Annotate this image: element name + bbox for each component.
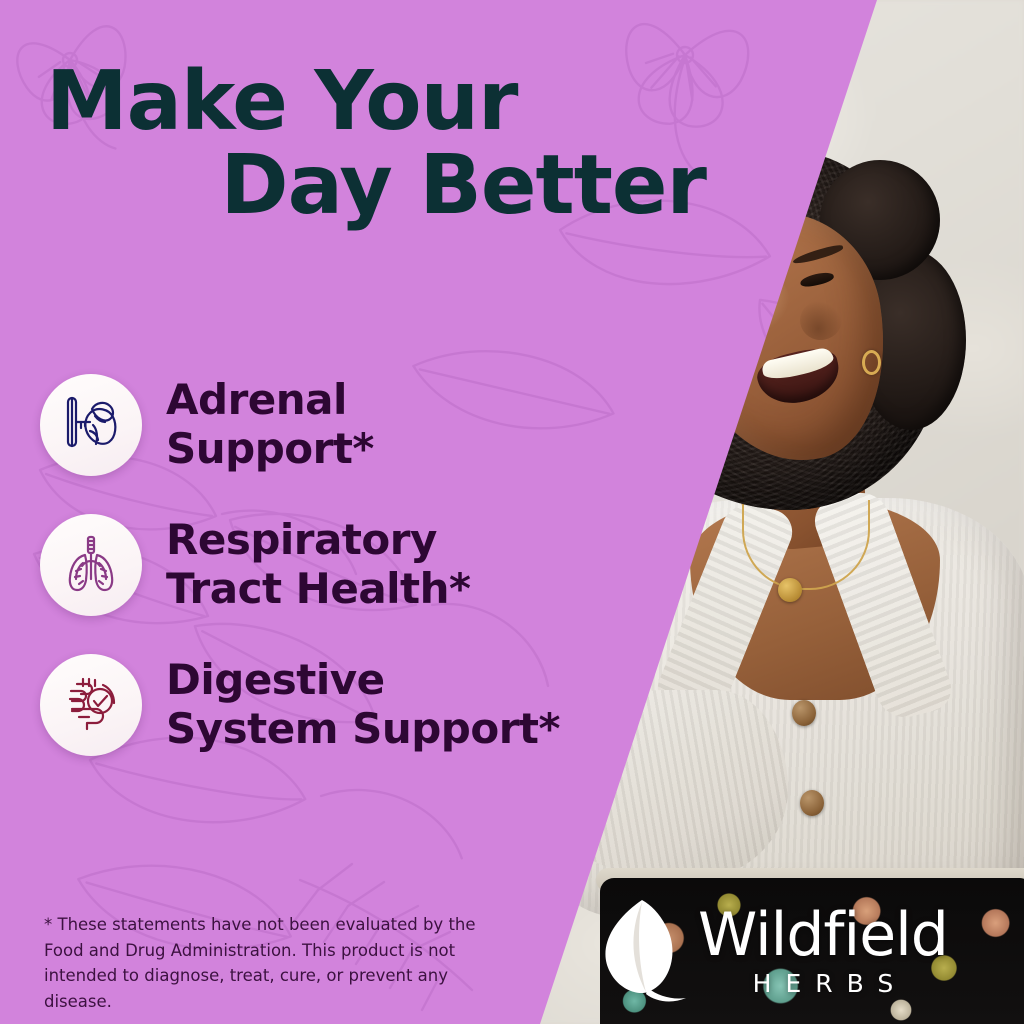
benefits-list: Adrenal Support* [40,372,600,792]
lungs-icon-badge [40,514,142,616]
brand-name: Wildfield [698,905,948,965]
page-title: Make Your Day Better [46,60,706,227]
lungs-icon [59,531,123,600]
brand-tagline: HERBS [753,971,908,996]
fda-disclaimer: * These statements have not been evaluat… [44,912,514,1014]
benefit-label-adrenal: Adrenal Support* [166,372,374,473]
digestive-checkmark-icon [59,671,123,740]
hoop-earring-right [862,350,881,375]
cardigan-button [800,790,824,816]
benefit-item-respiratory: Respiratory Tract Health* [40,512,600,616]
cardigan-button [792,700,816,726]
benefit-item-digestive: Digestive System Support* [40,652,600,756]
benefit-label-line-2: Support* [166,424,374,473]
brand-logo: Wildfield HERBS [596,896,948,1004]
leaf-icon [596,896,688,1004]
headline-line-1: Make Your [46,60,706,144]
benefit-label-line-1: Digestive [166,655,385,704]
coin-pendant [778,578,802,602]
promo-graphic: Make Your Day Better [0,0,1024,1024]
adrenal-icon-badge [40,374,142,476]
digestive-icon-badge [40,654,142,756]
benefit-label-respiratory: Respiratory Tract Health* [166,512,471,613]
brand-wordmark: Wildfield HERBS [698,905,948,996]
headline-line-2: Day Better [46,144,706,228]
adrenal-kidney-icon [59,391,123,460]
benefit-label-line-1: Adrenal [166,375,347,424]
benefit-label-line-1: Respiratory [166,515,437,564]
benefit-item-adrenal: Adrenal Support* [40,372,600,476]
benefit-label-digestive: Digestive System Support* [166,652,560,753]
benefit-label-line-2: Tract Health* [166,564,471,613]
benefit-label-line-2: System Support* [166,704,560,753]
